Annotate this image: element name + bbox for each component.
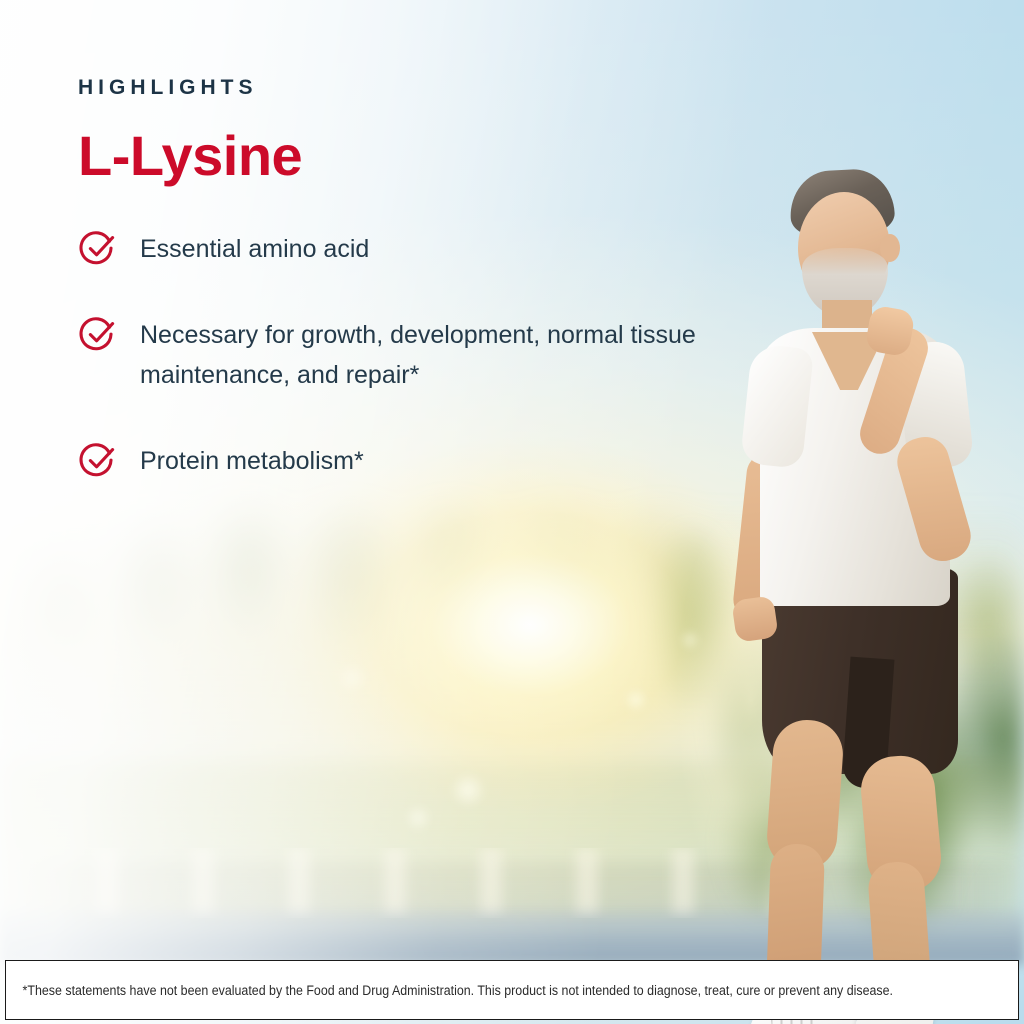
highlights-copy-block: HIGHLIGHTS L-Lysine Essential amino acid — [78, 76, 718, 481]
disclaimer-text: *These statements have not been evaluate… — [6, 983, 910, 998]
disclaimer-box: *These statements have not been evaluate… — [5, 960, 1019, 1020]
list-item: Protein metabolism* — [78, 440, 718, 482]
runner-photo — [706, 160, 1024, 960]
check-circle-icon — [78, 440, 118, 480]
list-item-label: Necessary for growth, development, norma… — [140, 314, 718, 396]
list-item-label: Protein metabolism* — [140, 440, 364, 482]
runner-left-fist — [731, 595, 778, 642]
highlights-list: Essential amino acid Necessary for growt… — [78, 228, 718, 481]
check-circle-icon — [78, 228, 118, 268]
eyebrow-label: HIGHLIGHTS — [78, 76, 718, 100]
product-highlights-image: HIGHLIGHTS L-Lysine Essential amino acid — [0, 0, 1024, 1024]
list-item: Necessary for growth, development, norma… — [78, 314, 718, 396]
runner-left-sleeve — [740, 343, 814, 469]
check-circle-icon — [78, 314, 118, 354]
list-item: Essential amino acid — [78, 228, 718, 270]
page-title: L-Lysine — [78, 128, 718, 184]
list-item-label: Essential amino acid — [140, 228, 369, 270]
